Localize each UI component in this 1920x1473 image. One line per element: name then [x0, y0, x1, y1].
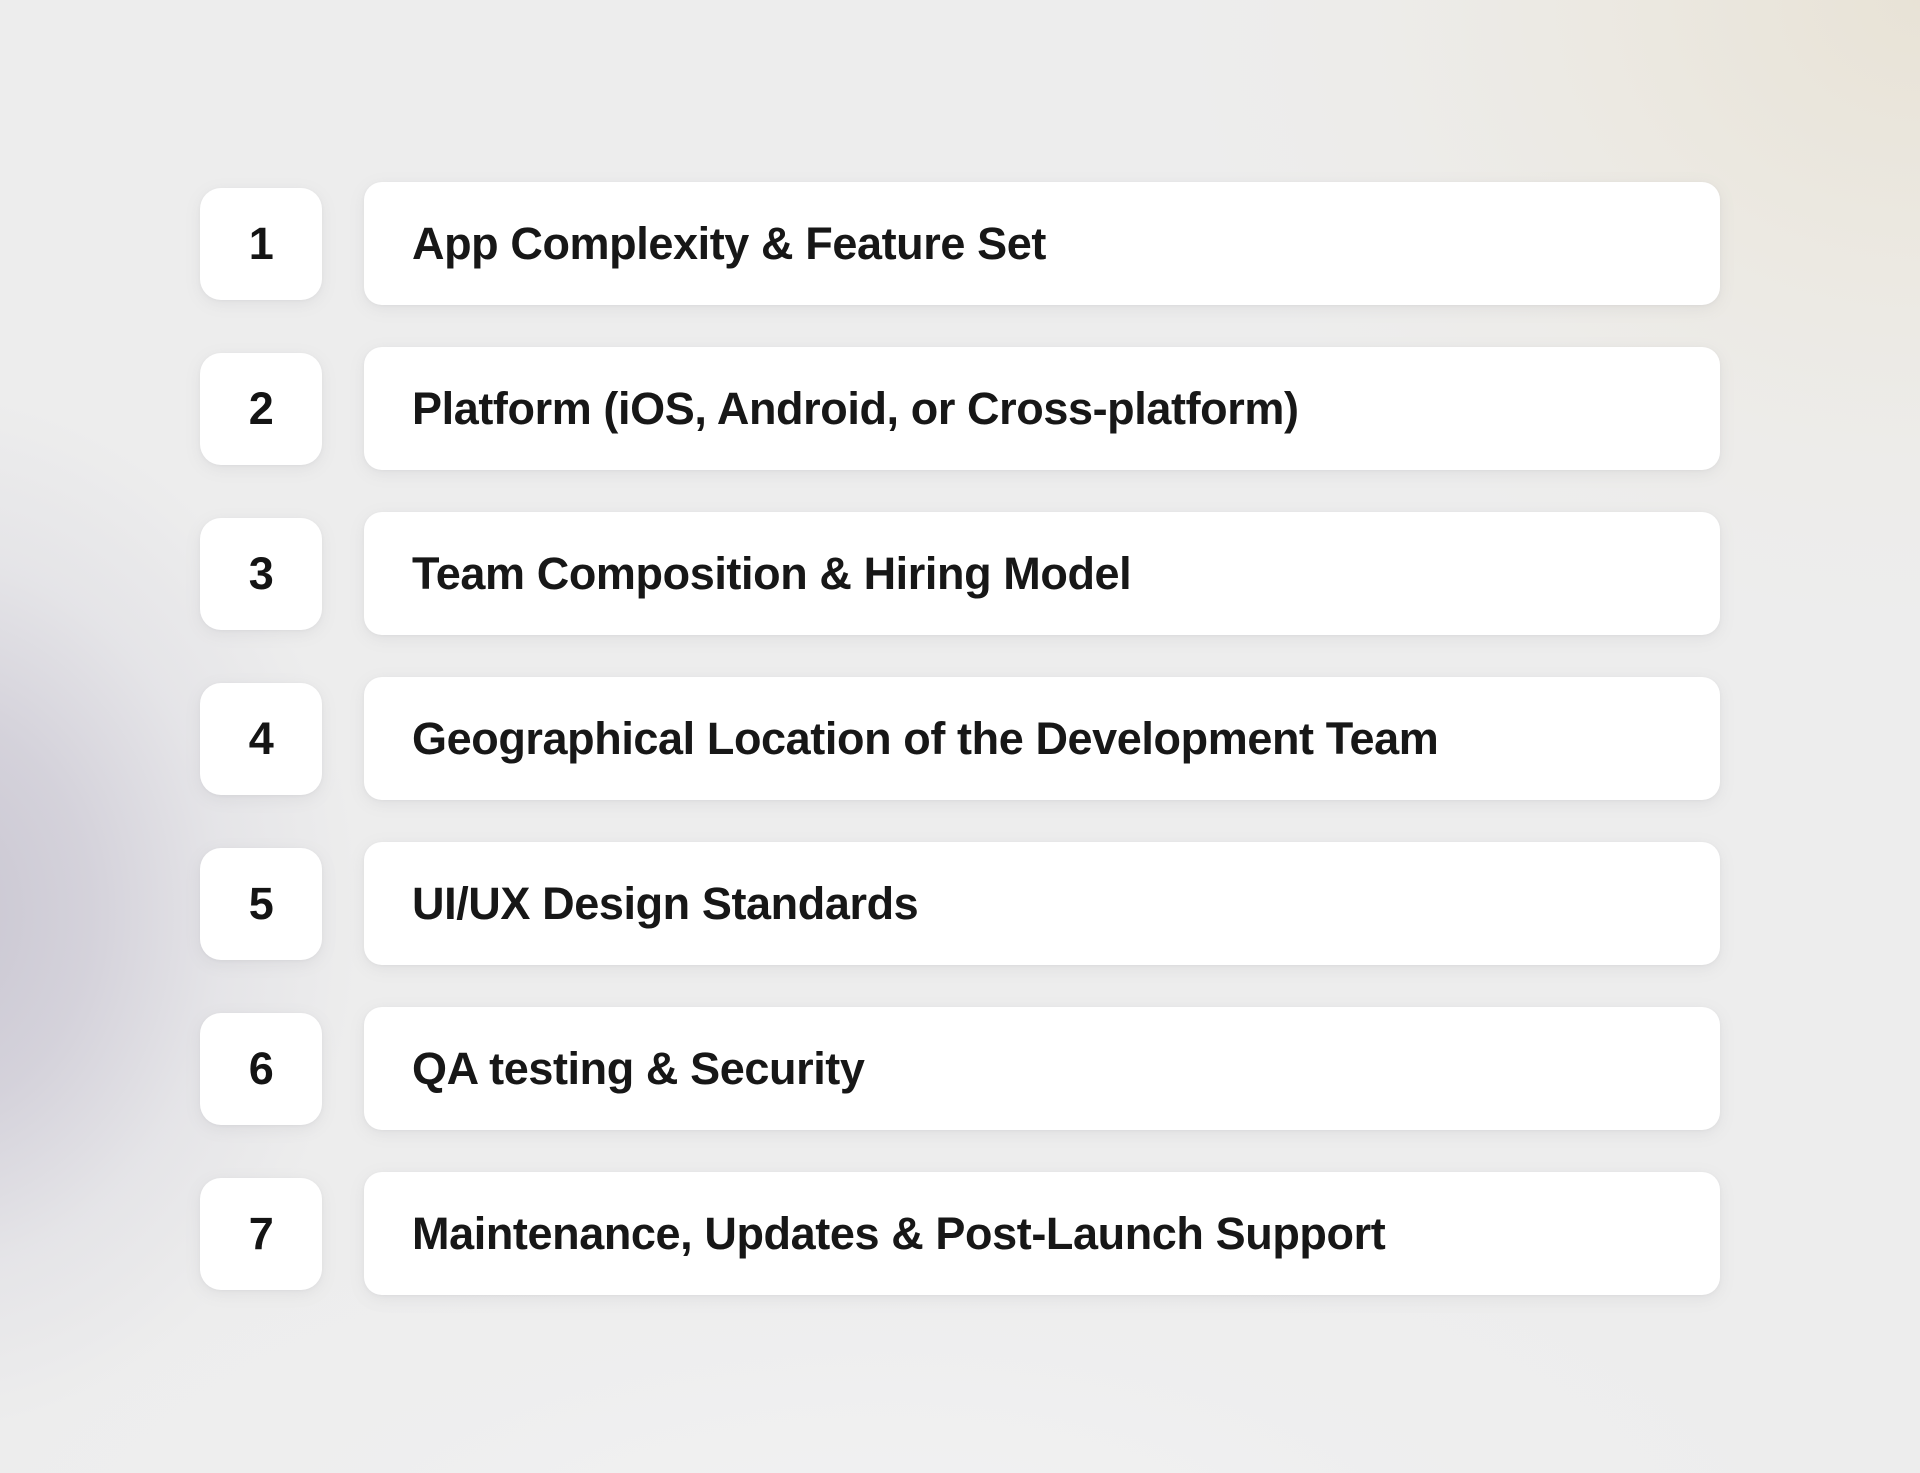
- item-card[interactable]: QA testing & Security: [364, 1007, 1720, 1130]
- list-item[interactable]: 6 QA testing & Security: [200, 1007, 1720, 1130]
- item-card[interactable]: Maintenance, Updates & Post-Launch Suppo…: [364, 1172, 1720, 1295]
- item-number-badge: 7: [200, 1178, 322, 1290]
- list-item[interactable]: 7 Maintenance, Updates & Post-Launch Sup…: [200, 1172, 1720, 1295]
- item-label: UI/UX Design Standards: [412, 879, 918, 929]
- item-label: Team Composition & Hiring Model: [412, 549, 1131, 599]
- item-number: 4: [249, 716, 274, 761]
- badge-card-spacer: [322, 1172, 364, 1295]
- badge-card-spacer: [322, 512, 364, 635]
- list-item[interactable]: 2 Platform (iOS, Android, or Cross-platf…: [200, 347, 1720, 470]
- list-item[interactable]: 4 Geographical Location of the Developme…: [200, 677, 1720, 800]
- badge-card-spacer: [322, 1007, 364, 1130]
- badge-card-spacer: [322, 182, 364, 305]
- list-item[interactable]: 3 Team Composition & Hiring Model: [200, 512, 1720, 635]
- item-card[interactable]: Team Composition & Hiring Model: [364, 512, 1720, 635]
- item-number: 7: [249, 1211, 274, 1256]
- badge-card-spacer: [322, 842, 364, 965]
- item-label: Geographical Location of the Development…: [412, 714, 1438, 764]
- badge-card-spacer: [322, 677, 364, 800]
- item-number: 6: [249, 1046, 274, 1091]
- list-item[interactable]: 1 App Complexity & Feature Set: [200, 182, 1720, 305]
- item-label: App Complexity & Feature Set: [412, 219, 1046, 269]
- item-number-badge: 3: [200, 518, 322, 630]
- item-card[interactable]: UI/UX Design Standards: [364, 842, 1720, 965]
- item-number: 2: [249, 386, 274, 431]
- item-label: Maintenance, Updates & Post-Launch Suppo…: [412, 1209, 1385, 1259]
- item-number: 5: [249, 881, 274, 926]
- item-number-badge: 1: [200, 188, 322, 300]
- item-number-badge: 4: [200, 683, 322, 795]
- item-card[interactable]: App Complexity & Feature Set: [364, 182, 1720, 305]
- item-card[interactable]: Platform (iOS, Android, or Cross-platfor…: [364, 347, 1720, 470]
- list-item[interactable]: 5 UI/UX Design Standards: [200, 842, 1720, 965]
- item-number: 1: [249, 221, 274, 266]
- item-number-badge: 2: [200, 353, 322, 465]
- item-number: 3: [249, 551, 274, 596]
- item-number-badge: 5: [200, 848, 322, 960]
- item-label: Platform (iOS, Android, or Cross-platfor…: [412, 384, 1299, 434]
- item-card[interactable]: Geographical Location of the Development…: [364, 677, 1720, 800]
- item-label: QA testing & Security: [412, 1044, 865, 1094]
- numbered-factor-list: 1 App Complexity & Feature Set 2 Platfor…: [200, 182, 1720, 1295]
- item-number-badge: 6: [200, 1013, 322, 1125]
- badge-card-spacer: [322, 347, 364, 470]
